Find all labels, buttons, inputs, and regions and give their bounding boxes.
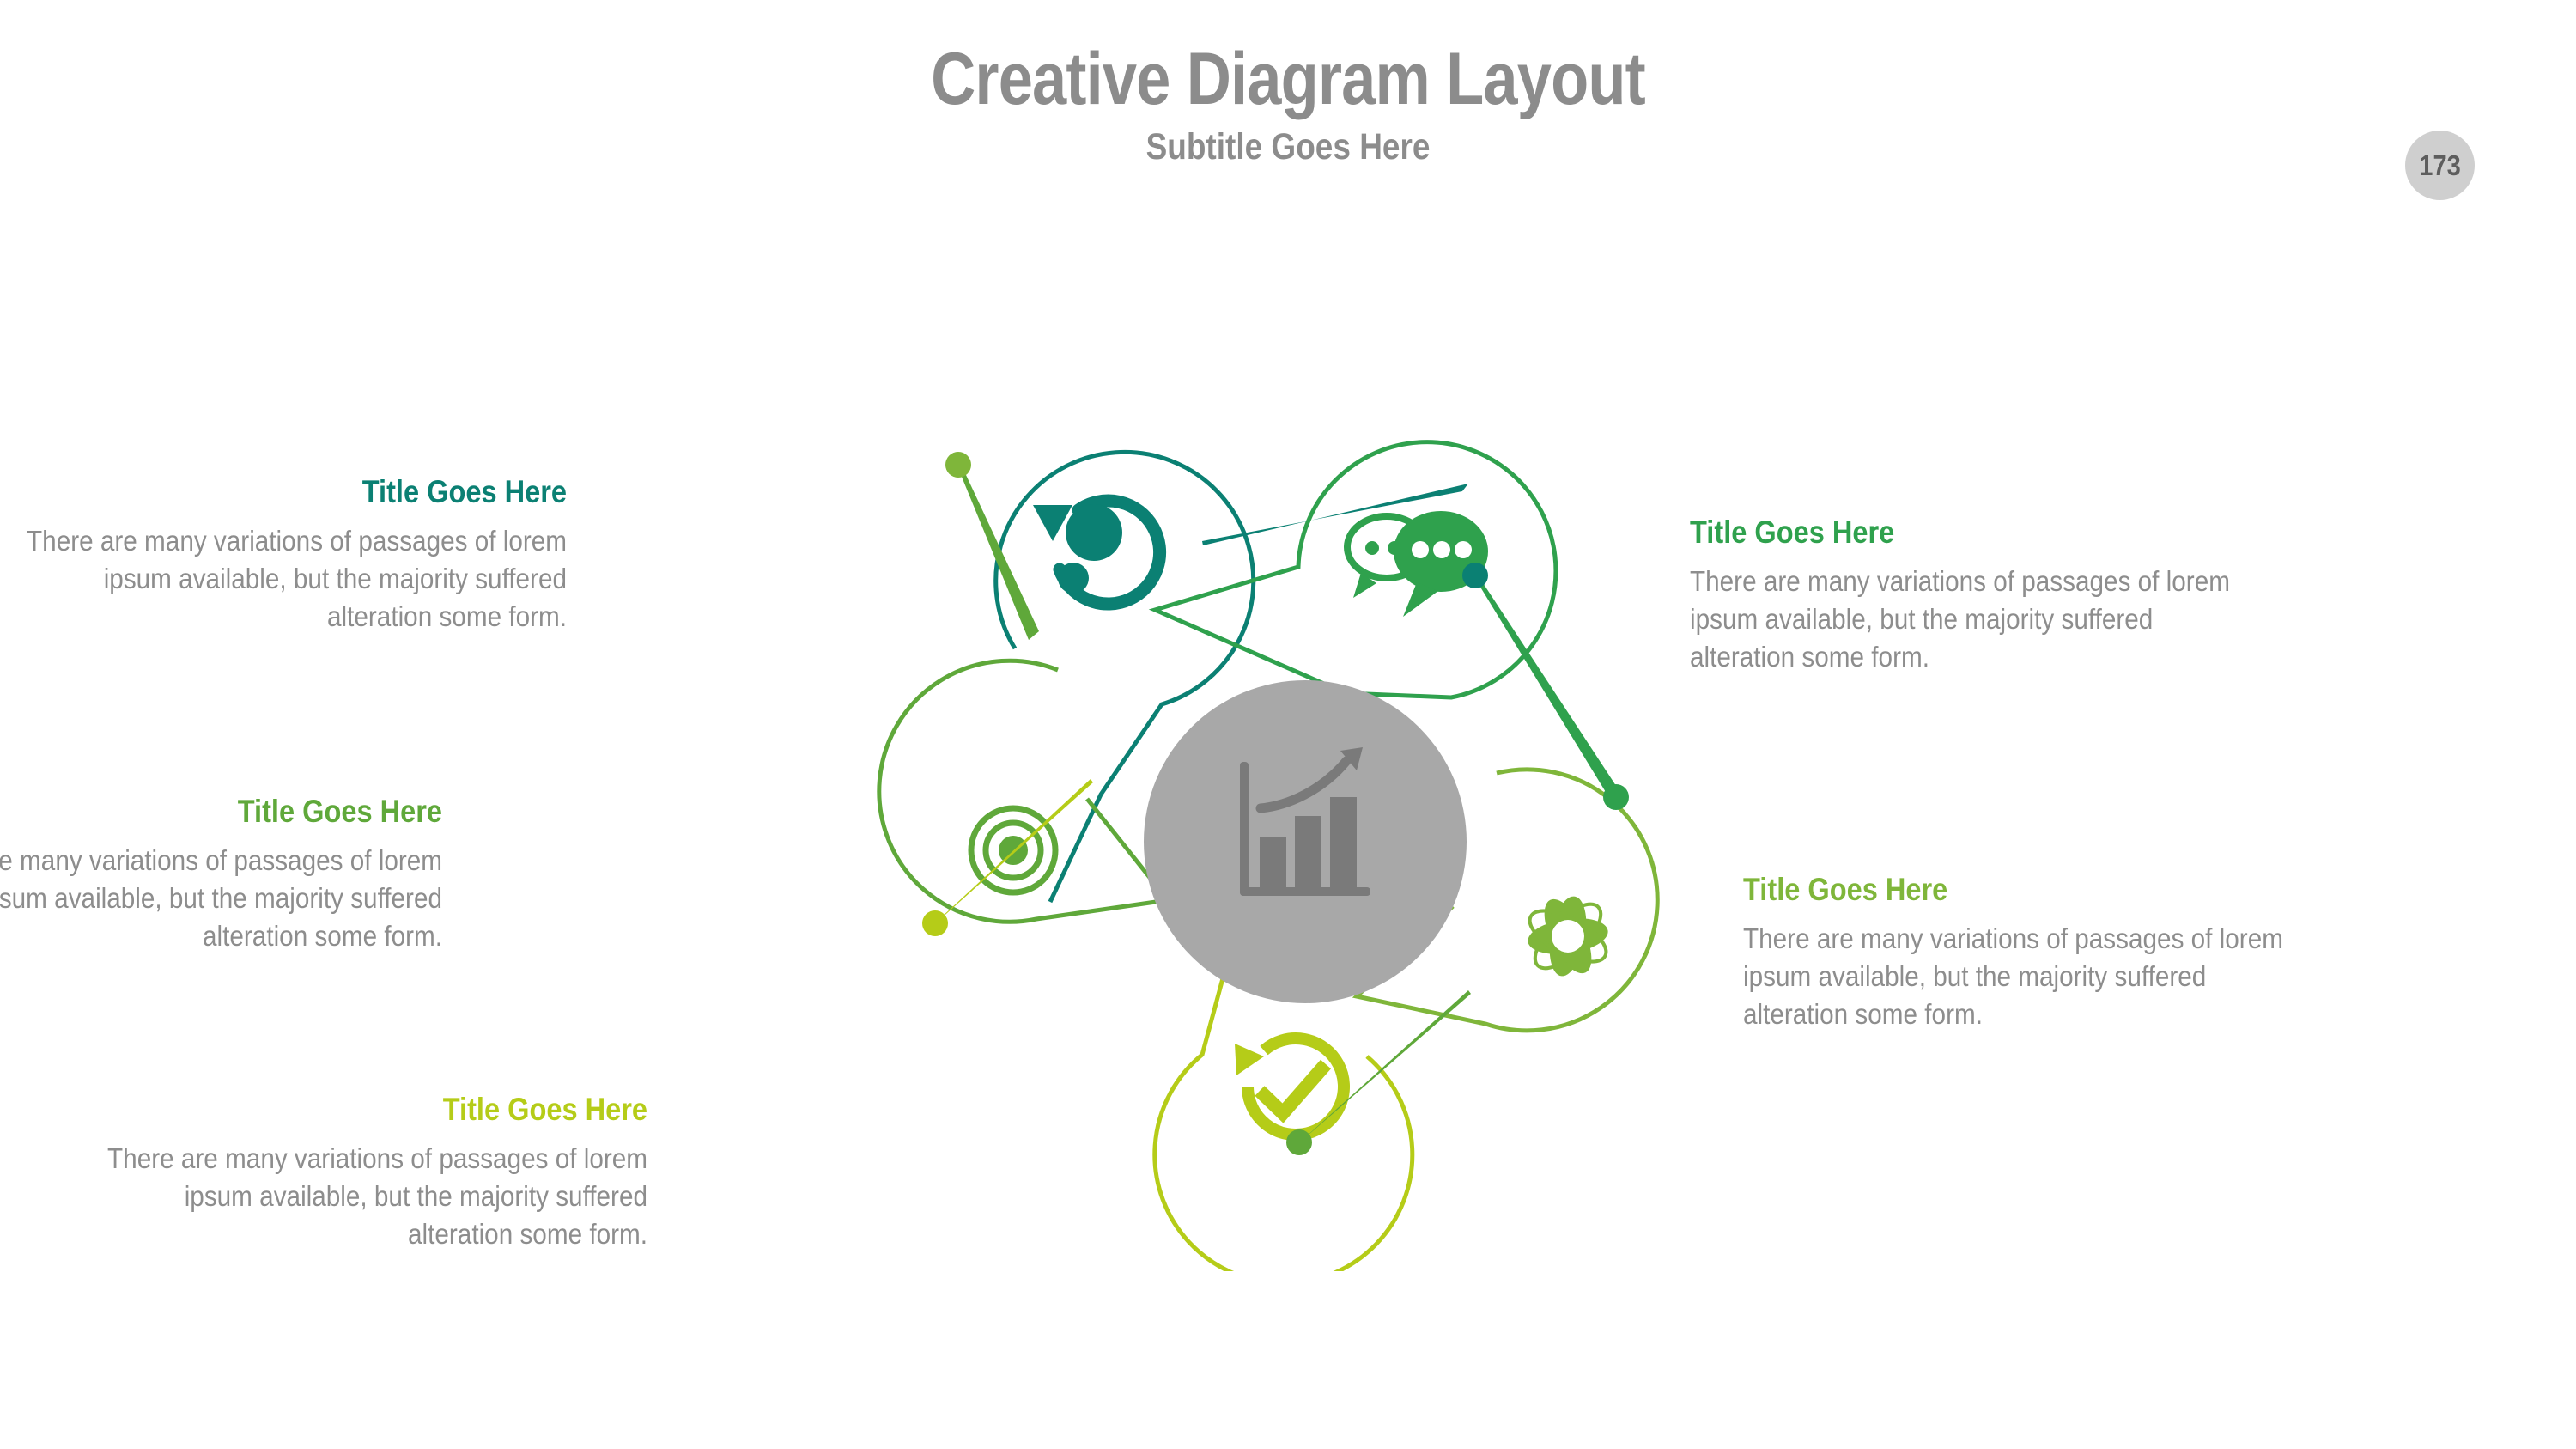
segment-text-4: Title Goes Here There are many variation… xyxy=(1743,873,2344,1033)
check-circle-arrow-icon xyxy=(1235,1038,1344,1135)
segment-title-1: Title Goes Here xyxy=(38,475,567,510)
slide-header: Creative Diagram Layout Subtitle Goes He… xyxy=(0,0,2576,168)
page-number-badge: 173 xyxy=(2405,131,2475,200)
slide-canvas: Creative Diagram Layout Subtitle Goes He… xyxy=(0,0,2576,1449)
segment-body-5: There are many variations of passages of… xyxy=(106,1140,647,1254)
connector-dot-5 xyxy=(922,910,948,936)
segment-body-1: There are many variations of passages of… xyxy=(26,522,567,636)
creative-diagram xyxy=(876,404,1735,1271)
connector-dot-4 xyxy=(1286,1129,1312,1155)
segment-text-2: Title Goes Here There are many variation… xyxy=(1690,515,2291,676)
segment-body-3: There are many variations of passages of… xyxy=(0,842,442,956)
page-subtitle: Subtitle Goes Here xyxy=(180,118,2396,168)
segment-title-3: Title Goes Here xyxy=(0,795,442,830)
lobe-outline-3 xyxy=(879,661,1168,922)
segment-title-5: Title Goes Here xyxy=(118,1093,647,1128)
atom-molecule-icon xyxy=(1522,892,1613,980)
segment-text-1: Title Goes Here There are many variation… xyxy=(0,475,567,636)
chat-bubbles-icon xyxy=(1347,511,1488,617)
page-number-label: 173 xyxy=(2419,149,2460,182)
page-title: Creative Diagram Layout xyxy=(206,0,2370,118)
leader-line-2 xyxy=(1474,574,1621,801)
segment-body-4: There are many variations of passages of… xyxy=(1743,920,2284,1034)
segment-body-2: There are many variations of passages of… xyxy=(1690,563,2231,677)
segment-title-2: Title Goes Here xyxy=(1690,515,2219,551)
segment-text-3: Title Goes Here There are many variation… xyxy=(0,795,442,955)
refresh-cycle-icon xyxy=(1033,501,1160,604)
segment-text-5: Title Goes Here There are many variation… xyxy=(46,1093,647,1253)
connector-dot-1 xyxy=(945,452,971,478)
connector-dot-2 xyxy=(1462,563,1488,588)
connector-dot-3 xyxy=(1603,784,1629,810)
segment-title-4: Title Goes Here xyxy=(1743,873,2272,908)
leader-line-3 xyxy=(931,779,1093,928)
